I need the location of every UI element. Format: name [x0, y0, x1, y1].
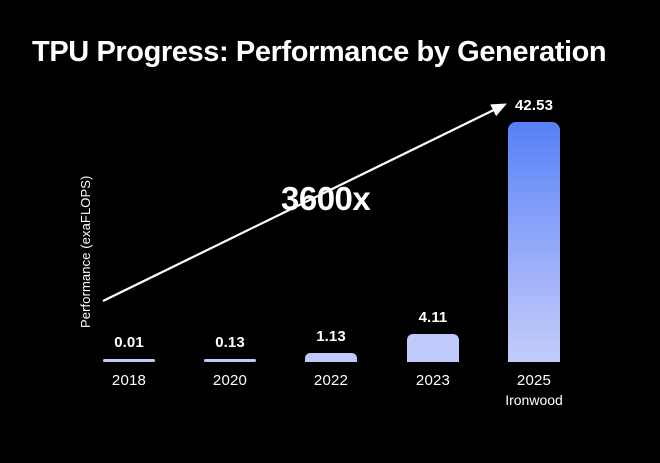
x-tick-2025: 2025 Ironwood: [484, 371, 584, 410]
growth-multiplier-label: 3600x: [281, 180, 370, 218]
bar-group-2023[interactable]: 4.11: [407, 309, 459, 362]
bar-group-2025[interactable]: 42.53: [508, 97, 560, 362]
tick-year-label: 2022: [281, 371, 381, 390]
tick-sublabel: Ironwood: [484, 390, 584, 410]
bar-group-2018[interactable]: 0.01: [103, 334, 155, 362]
bar-rect[interactable]: [407, 334, 459, 362]
bar-value-label: 42.53: [515, 97, 553, 114]
bar-value-label: 4.11: [419, 309, 448, 326]
bar-rect[interactable]: [204, 359, 256, 362]
x-tick-2023: 2023: [383, 371, 483, 390]
bar-value-label: 0.13: [215, 334, 245, 351]
bar-rect[interactable]: [305, 353, 357, 362]
bar-group-2022[interactable]: 1.13: [305, 328, 357, 362]
tick-year-label: 2018: [79, 371, 179, 390]
bar-rect[interactable]: [103, 359, 155, 362]
x-tick-2018: 2018: [79, 371, 179, 390]
tick-year-label: 2020: [180, 371, 280, 390]
x-tick-2020: 2020: [180, 371, 280, 390]
tick-year-label: 2025: [484, 371, 584, 390]
plot-area: 0.01 0.13 1.13 4.11 42.53 2018 2020: [0, 0, 660, 463]
bar-value-label: 1.13: [316, 328, 346, 345]
slide-canvas: TPU Progress: Performance by Generation …: [0, 0, 660, 463]
bar-value-label: 0.01: [114, 334, 144, 351]
bar-group-2020[interactable]: 0.13: [204, 334, 256, 362]
x-tick-2022: 2022: [281, 371, 381, 390]
bar-rect[interactable]: [508, 122, 560, 362]
tick-year-label: 2023: [383, 371, 483, 390]
